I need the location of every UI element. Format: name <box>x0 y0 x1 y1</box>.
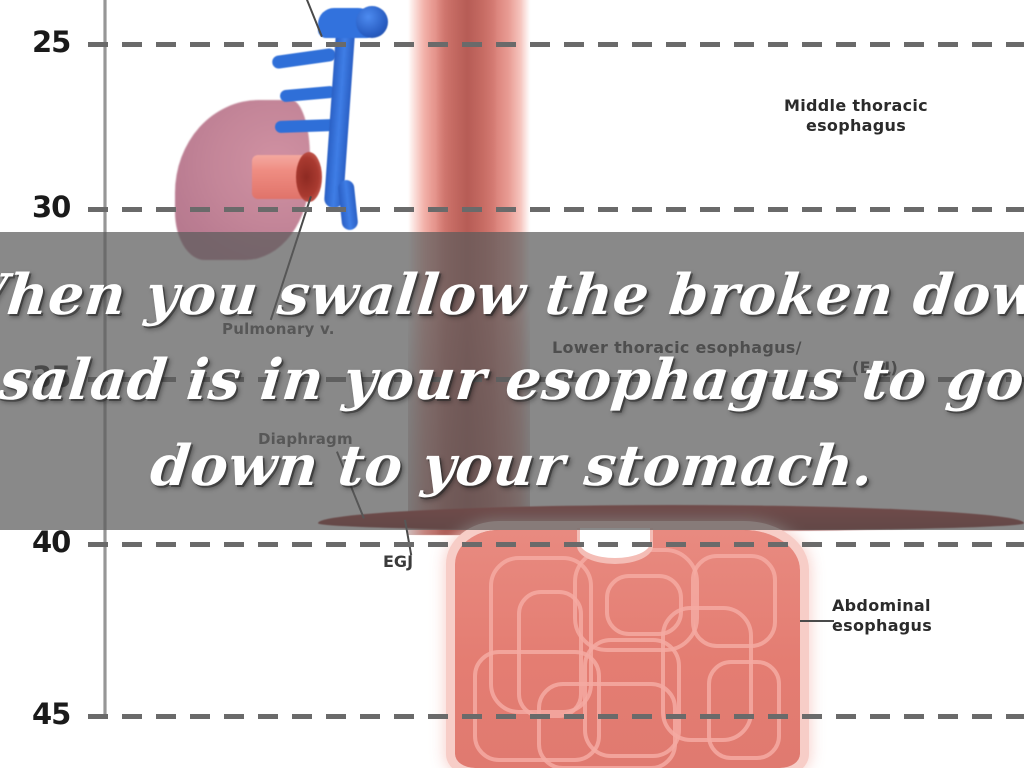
pulmonary-vein-branch-2 <box>280 86 337 103</box>
pulmonary-vein-knob <box>356 6 388 38</box>
label-middle-thoracic-esophagus: Middle thoracic esophagus <box>748 96 964 135</box>
gridline <box>88 42 1024 47</box>
rugae-fold <box>691 554 777 648</box>
label-middle-thoracic-line2: esophagus <box>748 116 964 136</box>
pulmonary-vein-branch-3 <box>275 119 337 133</box>
gridline <box>88 207 1024 212</box>
rugae-fold <box>537 682 677 768</box>
gridline <box>88 714 1024 719</box>
label-middle-thoracic-line1: Middle thoracic <box>748 96 964 116</box>
pulmonary-vein-branch-1 <box>271 48 336 70</box>
stomach-body <box>455 530 800 768</box>
caption-overlay-band: When you swallow the broken down salad i… <box>0 232 1024 530</box>
caption-line: down to your stomach. <box>146 424 877 509</box>
scale-tick-label: 25 <box>32 28 84 57</box>
caption-line: salad is in your esophagus to go <box>0 338 1024 423</box>
leader-line-abdominal <box>800 620 834 622</box>
slide-canvas: Middle thoracic esophagus Lower thoracic… <box>0 0 1024 768</box>
gridline <box>88 542 1024 547</box>
label-abdominal-line2: esophagus <box>832 616 1012 636</box>
scale-tick-label: 40 <box>32 528 84 557</box>
rugae-fold <box>707 660 781 760</box>
scale-tick-label: 30 <box>32 193 84 222</box>
label-abdominal-esophagus: Abdominal esophagus <box>832 596 1012 635</box>
pulmonary-vein-tail <box>337 179 358 230</box>
vessel-lumen-shape <box>296 152 322 202</box>
scale-tick-label: 45 <box>32 700 84 729</box>
label-egj: EGJ <box>383 552 413 572</box>
caption-line: When you swallow the broken down <box>0 253 1024 338</box>
label-abdominal-line1: Abdominal <box>832 596 1012 616</box>
